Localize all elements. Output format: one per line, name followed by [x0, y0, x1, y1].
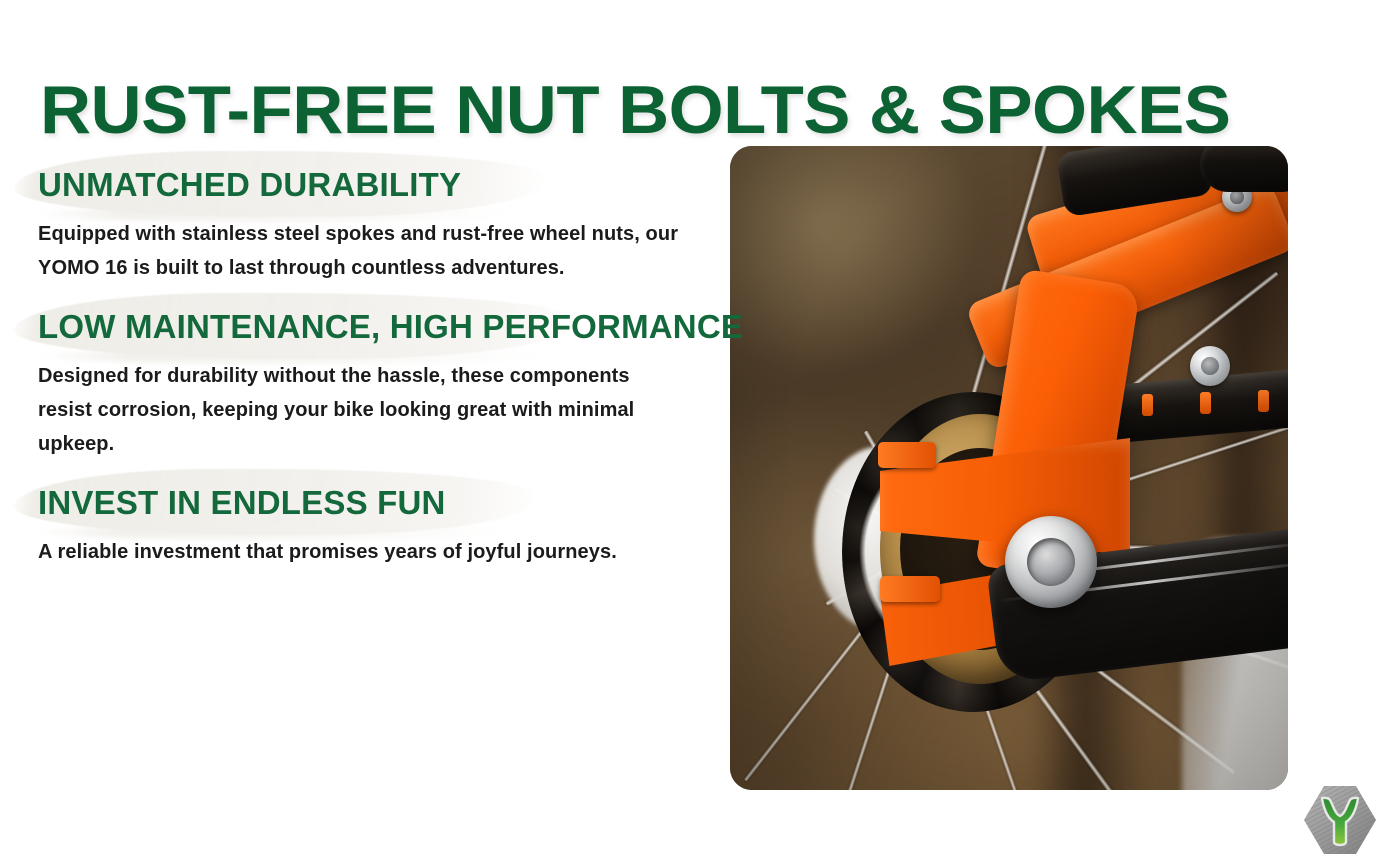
brake-cluster [1200, 146, 1288, 192]
page-title: RUST-FREE NUT BOLTS & SPOKES [40, 72, 1230, 148]
chrome-axle-nut [1005, 516, 1097, 608]
feature-heading-endless-fun: INVEST IN ENDLESS FUN [0, 483, 700, 523]
feature-block-endless-fun: INVEST IN ENDLESS FUN A reliable investm… [0, 483, 700, 569]
rack-orange-marker [1258, 390, 1269, 412]
yomo-y-logo-icon [1300, 782, 1380, 858]
feature-heading-durability: UNMATCHED DURABILITY [0, 165, 700, 205]
feature-heading-maintenance: LOW MAINTENANCE, HIGH PERFORMANCE [0, 307, 700, 347]
rack-orange-marker [1200, 392, 1211, 414]
brand-logo [1300, 782, 1380, 858]
feature-body-durability: Equipped with stainless steel spokes and… [0, 217, 688, 285]
feature-body-maintenance: Designed for durability without the hass… [0, 359, 688, 461]
feature-block-durability: UNMATCHED DURABILITY Equipped with stain… [0, 165, 700, 285]
product-photo-bicycle-wheel: MADE IN TAIWAN [730, 146, 1288, 790]
frame-bolt [1190, 346, 1230, 386]
feature-body-endless-fun: A reliable investment that promises year… [0, 535, 688, 569]
feature-block-maintenance: LOW MAINTENANCE, HIGH PERFORMANCE Design… [0, 307, 700, 461]
features-list: UNMATCHED DURABILITY Equipped with stain… [0, 165, 700, 591]
orange-tab [878, 442, 936, 468]
rack-orange-marker [1142, 394, 1153, 416]
orange-tab [880, 576, 940, 602]
